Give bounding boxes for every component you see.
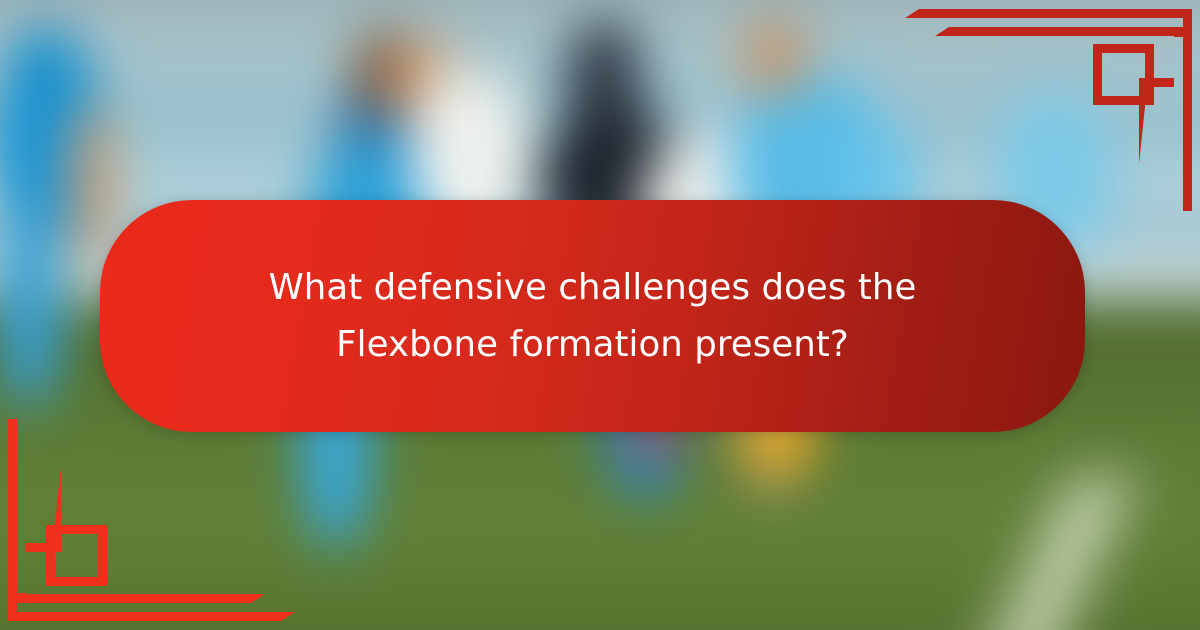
ornament-bar-corner-join-bl <box>17 593 26 603</box>
question-card-canvas: What defensive challenges does the Flexb… <box>0 0 1200 630</box>
player-blob-left-legs <box>0 210 62 410</box>
ornament-bar-top-outer <box>905 9 1190 18</box>
ornament-bar-left-outer <box>8 419 17 621</box>
ornament-bar-square-link <box>1145 78 1174 87</box>
ornament-bar-right-outer <box>1183 9 1192 211</box>
corner-ornament-top-right <box>1000 0 1200 210</box>
corner-ornament-bottom-left <box>0 420 200 630</box>
ornament-bar-top-inner <box>935 27 1174 36</box>
ornament-bar-corner-join <box>1174 27 1183 37</box>
ornament-bar-bottom-outer <box>10 612 295 621</box>
player-blob-left-arm <box>70 100 114 270</box>
ornament-bar-bottom-inner <box>26 594 265 603</box>
question-text: What defensive challenges does the Flexb… <box>198 259 988 374</box>
player-blob-right-head <box>740 18 810 98</box>
player-blob-left-head <box>6 28 84 106</box>
ornament-bar-square-link-bl <box>26 543 55 552</box>
question-badge: What defensive challenges does the Flexb… <box>100 200 1085 432</box>
pitch-sideline-marking <box>733 466 1200 630</box>
